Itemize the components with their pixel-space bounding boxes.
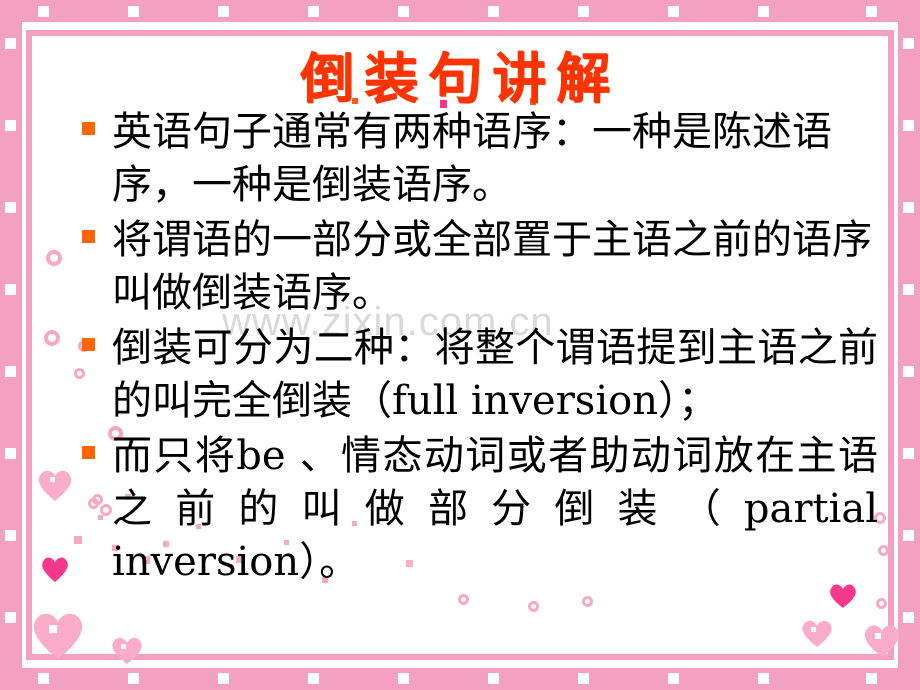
list-item: 倒装可分为二种：将整个谓语提到主语之前的叫完全倒装（full inversion… bbox=[78, 322, 878, 428]
frame-dot bbox=[903, 120, 914, 131]
frame-dot bbox=[903, 448, 914, 459]
list-item: 将谓语的一部分或全部置于主语之前的语序叫做倒装语序。 bbox=[78, 214, 878, 320]
bullet-text-4: 而只将be 、情态动词或者助动词放在主语之前的叫做部分倒装（partial in… bbox=[112, 430, 878, 589]
page-title: 倒装句讲解 bbox=[0, 34, 920, 113]
frame-dot bbox=[758, 673, 769, 684]
frame-dot bbox=[218, 6, 229, 17]
list-item: 而只将be 、情态动词或者助动词放在主语之前的叫做部分倒装（partial in… bbox=[78, 430, 878, 589]
bullet-list: 英语句子通常有两种语序：一种是陈述语序，一种是倒装语序。 将谓语的一部分或全部置… bbox=[78, 106, 878, 591]
heart-decoration bbox=[36, 468, 74, 502]
frame-inner-line-right bbox=[888, 30, 894, 660]
frame-dot bbox=[578, 673, 589, 684]
frame-dot bbox=[866, 6, 877, 17]
frame-dot bbox=[5, 120, 16, 131]
frame-dot bbox=[578, 6, 589, 17]
heart-ring-decoration bbox=[46, 250, 62, 266]
frame-dot bbox=[903, 284, 914, 295]
heart-ring-decoration bbox=[44, 330, 60, 346]
heart-icon bbox=[862, 622, 902, 658]
slide-canvas: www.zixin.com.cn 倒装句讲解 英语句子通常有两种语序：一种是陈述… bbox=[0, 0, 920, 690]
frame-dot bbox=[668, 6, 679, 17]
heart-ring-decoration bbox=[582, 596, 593, 607]
frame-dot bbox=[128, 6, 139, 17]
bullet-square-icon bbox=[82, 230, 95, 243]
heart-ring-decoration bbox=[528, 601, 539, 612]
heart-icon bbox=[36, 468, 74, 502]
frame-dot bbox=[5, 202, 16, 213]
frame-dot bbox=[218, 673, 229, 684]
heart-decoration bbox=[800, 618, 834, 648]
frame-dot bbox=[903, 366, 914, 377]
frame-dot bbox=[5, 448, 16, 459]
heart-icon bbox=[800, 618, 834, 648]
heart-icon bbox=[30, 610, 86, 660]
frame-dot bbox=[308, 6, 319, 17]
heart-decoration bbox=[110, 635, 144, 665]
frame-dot bbox=[903, 530, 914, 541]
heart-icon bbox=[110, 635, 144, 665]
bullet-text-2: 将谓语的一部分或全部置于主语之前的语序叫做倒装语序。 bbox=[112, 214, 878, 320]
frame-dot bbox=[488, 673, 499, 684]
heart-decoration bbox=[40, 555, 70, 583]
frame-dot bbox=[488, 6, 499, 17]
frame-dot bbox=[866, 673, 877, 684]
list-item: 英语句子通常有两种语序：一种是陈述语序，一种是倒装语序。 bbox=[78, 106, 878, 212]
frame-dot bbox=[903, 612, 914, 623]
frame-dot bbox=[38, 673, 49, 684]
frame-dot bbox=[5, 284, 16, 295]
frame-dot bbox=[398, 6, 409, 17]
frame-inner-line-bottom bbox=[26, 654, 894, 660]
heart-ring-decoration bbox=[878, 545, 889, 556]
heart-ring-decoration bbox=[876, 598, 887, 609]
frame-dot bbox=[668, 673, 679, 684]
frame-dot bbox=[903, 202, 914, 213]
frame-dot bbox=[5, 366, 16, 377]
bullet-square-icon bbox=[82, 122, 95, 135]
frame-inner-line-left bbox=[26, 30, 32, 660]
frame-dot bbox=[38, 6, 49, 17]
bullet-text-1: 英语句子通常有两种语序：一种是陈述语序，一种是倒装语序。 bbox=[112, 106, 878, 212]
bullet-text-3: 倒装可分为二种：将整个谓语提到主语之前的叫完全倒装（full inversion… bbox=[112, 322, 878, 428]
heart-decoration bbox=[862, 622, 902, 658]
heart-ring-decoration bbox=[458, 594, 469, 605]
frame-dot bbox=[5, 530, 16, 541]
frame-dot bbox=[128, 673, 139, 684]
heart-decoration bbox=[30, 610, 86, 660]
bullet-square-icon bbox=[82, 338, 95, 351]
frame-dot bbox=[398, 673, 409, 684]
bullet-square-icon bbox=[82, 446, 95, 459]
frame-dot bbox=[308, 673, 319, 684]
heart-icon bbox=[40, 555, 70, 583]
frame-dot bbox=[5, 612, 16, 623]
frame-dot bbox=[758, 6, 769, 17]
